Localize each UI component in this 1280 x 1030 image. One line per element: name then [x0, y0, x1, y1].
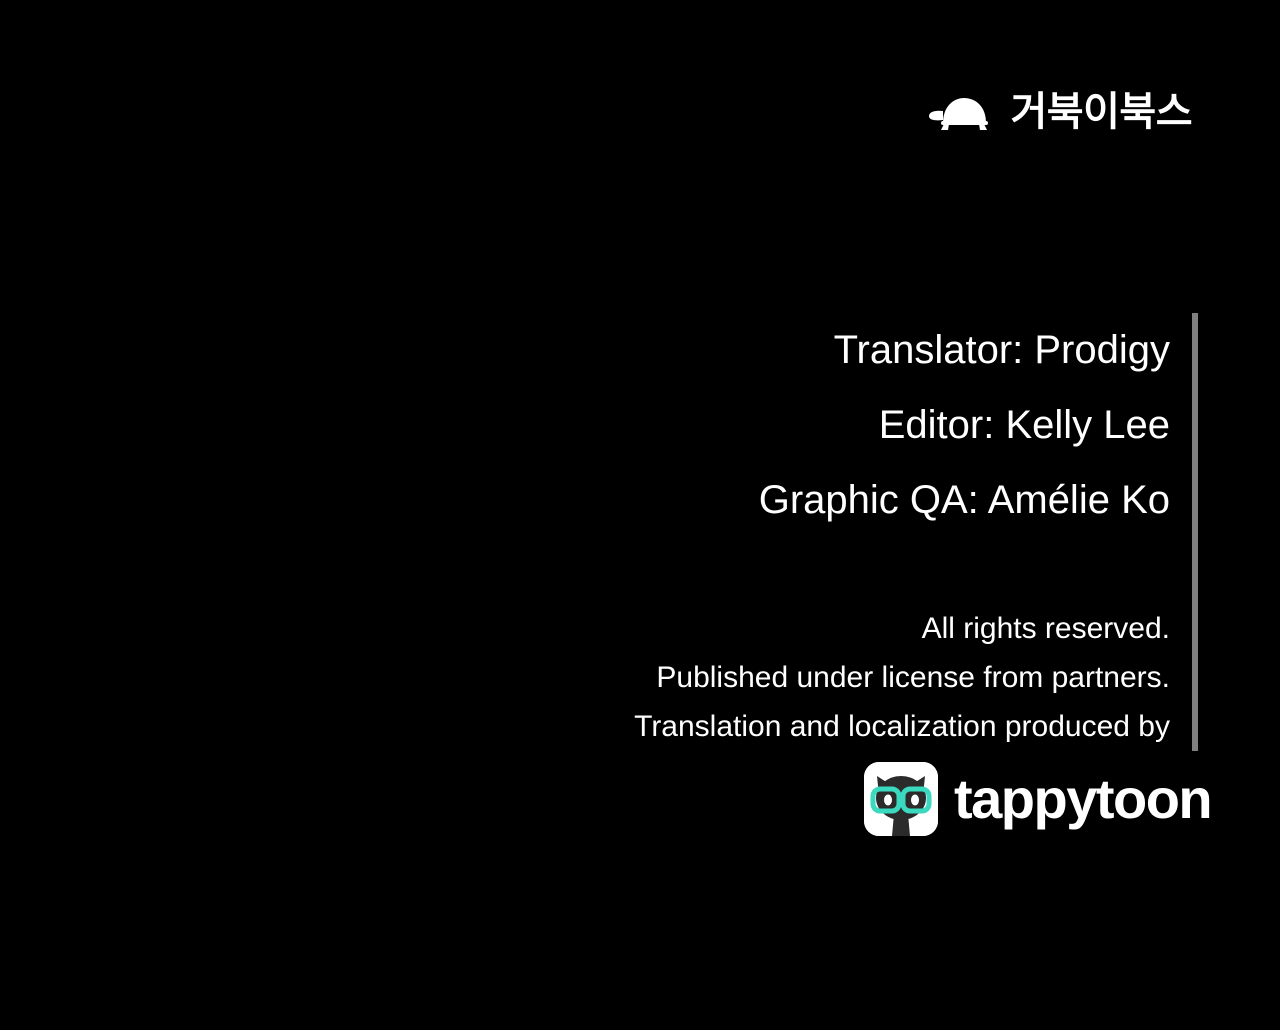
legal-line-license: Published under license from partners. [498, 653, 1170, 702]
tappytoon-logo: tappytoon [864, 762, 1211, 836]
credits-page: 거북이북스 Translator: Prodigy Editor: Kelly … [0, 0, 1280, 1030]
publisher-name: 거북이북스 [1011, 92, 1193, 132]
credit-line-graphic-qa: Graphic QA: Amélie Ko [498, 463, 1170, 538]
legal-line-rights: All rights reserved. [498, 604, 1170, 653]
credit-line-editor: Editor: Kelly Lee [498, 388, 1170, 463]
credit-line-translator: Translator: Prodigy [498, 313, 1170, 388]
publisher-logo: 거북이북스 [927, 92, 1193, 132]
legal-block: All rights reserved. Published under lic… [498, 604, 1170, 751]
credits-block: Translator: Prodigy Editor: Kelly Lee Gr… [498, 313, 1198, 751]
cat-with-glasses-icon [864, 762, 938, 836]
tappytoon-wordmark: tappytoon [954, 771, 1211, 827]
legal-line-localization: Translation and localization produced by [498, 702, 1170, 751]
turtle-icon [927, 93, 997, 131]
